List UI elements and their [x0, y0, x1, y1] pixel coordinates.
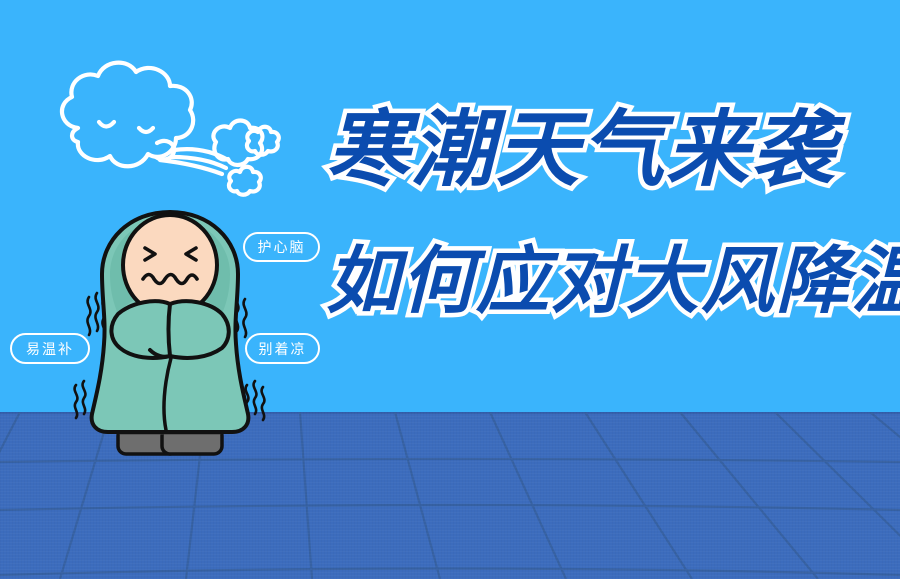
headline-line-1-fill: 寒潮天气来袭 — [326, 103, 836, 196]
headline-line-1: 寒潮天气来袭 寒潮天气来袭 — [326, 108, 871, 191]
headline-line-2: 如何应对大风降温 如何应对大风降温 — [326, 245, 871, 318]
floor-tile-lines — [0, 412, 900, 579]
floor-background — [0, 412, 900, 579]
headline-line-2-fill: 如何应对大风降温 — [326, 241, 900, 322]
tag-pill-bie-zhao-liang[interactable]: 别着凉 — [245, 333, 320, 364]
headline-block: 寒潮天气来袭 寒潮天气来袭 如何应对大风降温 如何应对大风降温 — [326, 108, 871, 318]
poster-canvas: 寒潮天气来袭 寒潮天气来袭 如何应对大风降温 如何应对大风降温 护心脑 易温补 … — [0, 0, 900, 579]
tag-pill-hu-xin-nao[interactable]: 护心脑 — [243, 232, 320, 262]
tag-pill-yi-wen-bu[interactable]: 易温补 — [10, 333, 90, 364]
